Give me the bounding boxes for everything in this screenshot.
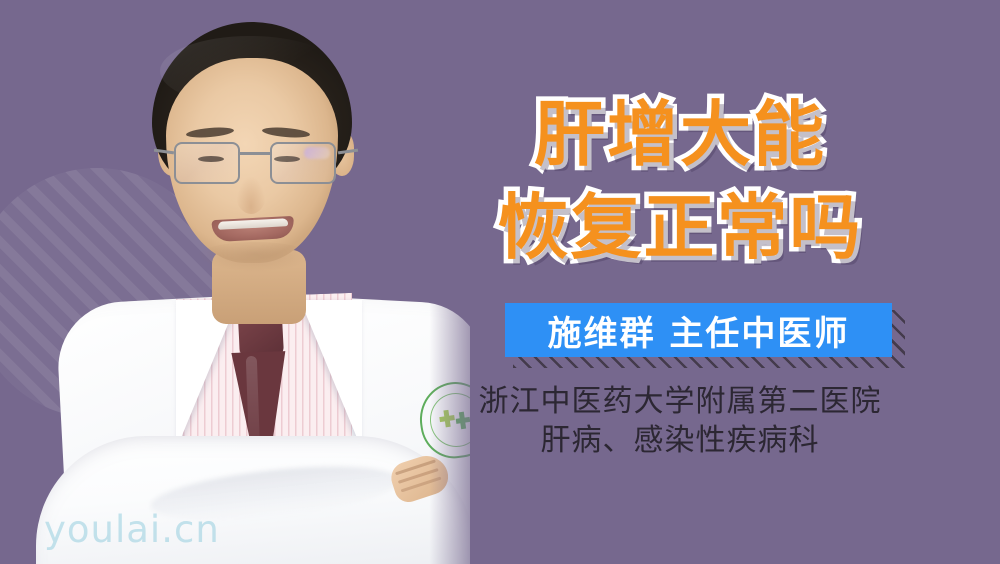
affiliation-line-1: 浙江中医药大学附属第二医院 bbox=[470, 382, 890, 421]
video-thumbnail-card: 肝增大能 恢复正常吗 施维群 主任中医师 浙江中医药大学附属第二医院 肝病、感染… bbox=[0, 0, 1000, 564]
eyeglass-lens-right bbox=[270, 142, 336, 184]
eyeglass-lens-left bbox=[174, 142, 240, 184]
doctor-portrait-photo bbox=[0, 0, 470, 564]
hospital-emblem-cross-icon bbox=[434, 402, 470, 441]
affiliation: 浙江中医药大学附属第二医院 肝病、感染性疾病科 bbox=[470, 382, 890, 460]
speaker-badge-label: 施维群 主任中医师 bbox=[548, 306, 850, 355]
chin-shadow bbox=[196, 242, 314, 272]
page-title-line-2: 恢复正常吗 bbox=[470, 181, 890, 274]
speaker-badge: 施维群 主任中医师 bbox=[505, 303, 892, 357]
page-title-line-1: 肝增大能 bbox=[470, 88, 890, 181]
nose bbox=[236, 176, 266, 214]
affiliation-line-2: 肝病、感染性疾病科 bbox=[470, 421, 890, 460]
eyeglass-bridge bbox=[238, 152, 272, 155]
lab-coat-lapel-right bbox=[300, 300, 362, 450]
page-title: 肝增大能 恢复正常吗 bbox=[470, 88, 890, 274]
